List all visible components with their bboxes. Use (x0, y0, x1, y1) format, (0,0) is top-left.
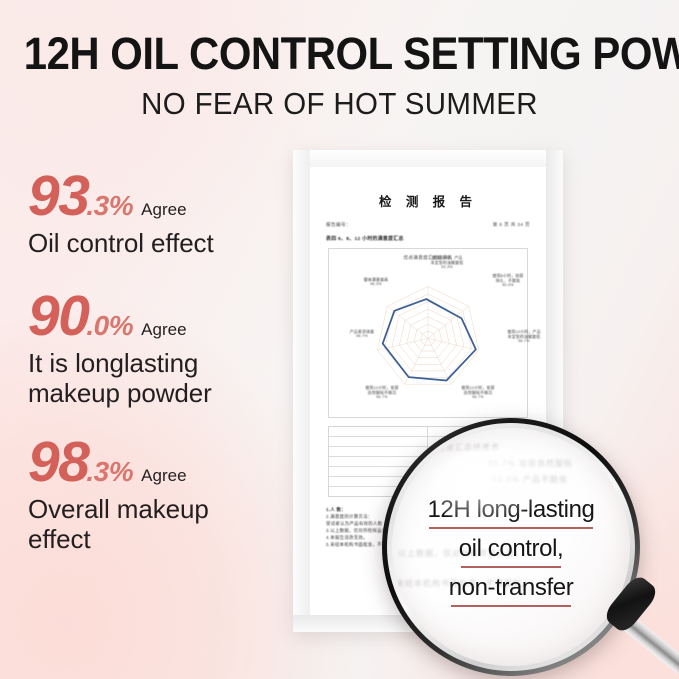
document-section-heading: 表四 6、8、12 小时的满意度汇总 (326, 235, 530, 242)
frame-bevel-top (293, 150, 563, 167)
magnifier-glass: 优点满意度汇总结果表 96.7% 妆容自然服帖 93.3% 产品不脱妆 以上数据… (392, 428, 630, 666)
stat-agree-label: Agree (141, 467, 186, 484)
radar-chart-container: 优点满意度汇总结果表 (328, 248, 528, 418)
radar-axis-value: 98.3% (347, 282, 405, 287)
stat-integer: 98 (28, 434, 88, 491)
stat-description-line1: It is longlasting (28, 348, 296, 378)
radar-data-polygon (383, 299, 476, 380)
radar-axis-label-left: 产品易涂抹度 96.7% (333, 329, 391, 339)
stat-value-row: 98 .3% Agree (28, 434, 296, 491)
stat-agree-label: Agree (141, 321, 186, 338)
magnifier-line-2: oil control, (459, 534, 564, 568)
document-meta-right: 第 6 页 共 34 页 (493, 222, 530, 228)
header: 12H OIL CONTROL SETTING POWDER NO FEAR O… (0, 30, 679, 121)
page-title: 12H OIL CONTROL SETTING POWDER (24, 30, 655, 78)
stat-decimal: .3% (86, 192, 133, 220)
radar-axis-value: 96.7% (495, 339, 546, 344)
radar-axis-label-right: 使用12小时，产品未定型的油腻度低 96.7% (495, 329, 546, 344)
stat-description: Overall makeup effect (28, 494, 296, 554)
stat-integer: 90 (28, 288, 88, 345)
magnifier-claim-text: 12H long-lasting oil control, non-transf… (392, 428, 630, 666)
page-subtitle: NO FEAR OF HOT SUMMER (17, 87, 662, 121)
radar-axis-label-bottomleft: 使用12小时，妆容自然服帖不暗沉 96.7% (353, 385, 411, 400)
radar-chart: 使用6小时，产品未定型的油腻度低 93.3% 使用6小时，妆容持久、不脱妆 90… (329, 257, 527, 415)
stat-agree-label: Agree (141, 201, 186, 218)
radar-axes (377, 287, 478, 385)
stat-decimal: .0% (86, 312, 133, 340)
stat-integer: 93 (28, 168, 88, 225)
magnifier-line-3: non-transfer (449, 573, 574, 607)
radar-axis-label-topleft: 整体满意度高 98.3% (347, 277, 405, 287)
stat-description-line1: Overall makeup (28, 494, 296, 524)
document-title: 检 测 报 告 (326, 191, 530, 210)
stat-description-line2: makeup powder (28, 378, 296, 408)
stat-description: It is longlasting makeup powder (28, 348, 296, 408)
magnifying-glass: 优点满意度汇总结果表 96.7% 妆容自然服帖 93.3% 产品不脱妆 以上数据… (382, 418, 640, 676)
radar-axis-value: 96.7% (449, 395, 507, 400)
stat-block-longlasting: 90 .0% Agree It is longlasting makeup po… (28, 288, 296, 408)
radar-axis-label-top: 使用6小时，产品未定型的油腻度低 93.3% (418, 255, 476, 270)
stat-value-row: 90 .0% Agree (28, 288, 296, 345)
radar-axis-value: 96.7% (333, 334, 391, 339)
document-meta-left: 报告编号： (326, 222, 351, 228)
stat-description-line2: effect (28, 524, 296, 554)
radar-axis-value: 93.3% (418, 265, 476, 270)
radar-axis-label-topright: 使用6小时，妆容持久、不脱妆 90.0% (479, 273, 537, 288)
stat-description: Oil control effect (28, 228, 296, 258)
statistics-list: 93 .3% Agree Oil control effect 90 .0% A… (28, 168, 296, 584)
stat-description-line1: Oil control effect (28, 228, 214, 258)
stat-block-oil-control: 93 .3% Agree Oil control effect (28, 168, 296, 258)
magnifier-line-1: 12H long-lasting (427, 495, 594, 529)
document-meta-row: 报告编号： 第 6 页 共 34 页 (326, 222, 530, 228)
stat-decimal: .3% (86, 458, 133, 486)
stat-value-row: 93 .3% Agree (28, 168, 296, 225)
radar-axis-value: 96.7% (353, 395, 411, 400)
radar-axis-value: 90.0% (479, 283, 537, 288)
stat-block-overall-makeup: 98 .3% Agree Overall makeup effect (28, 434, 296, 554)
radar-axis-label-bottomright: 使用12小时，妆容自然服帖不暗沉 96.7% (449, 385, 507, 400)
poster-canvas: 12H OIL CONTROL SETTING POWDER NO FEAR O… (0, 0, 679, 679)
